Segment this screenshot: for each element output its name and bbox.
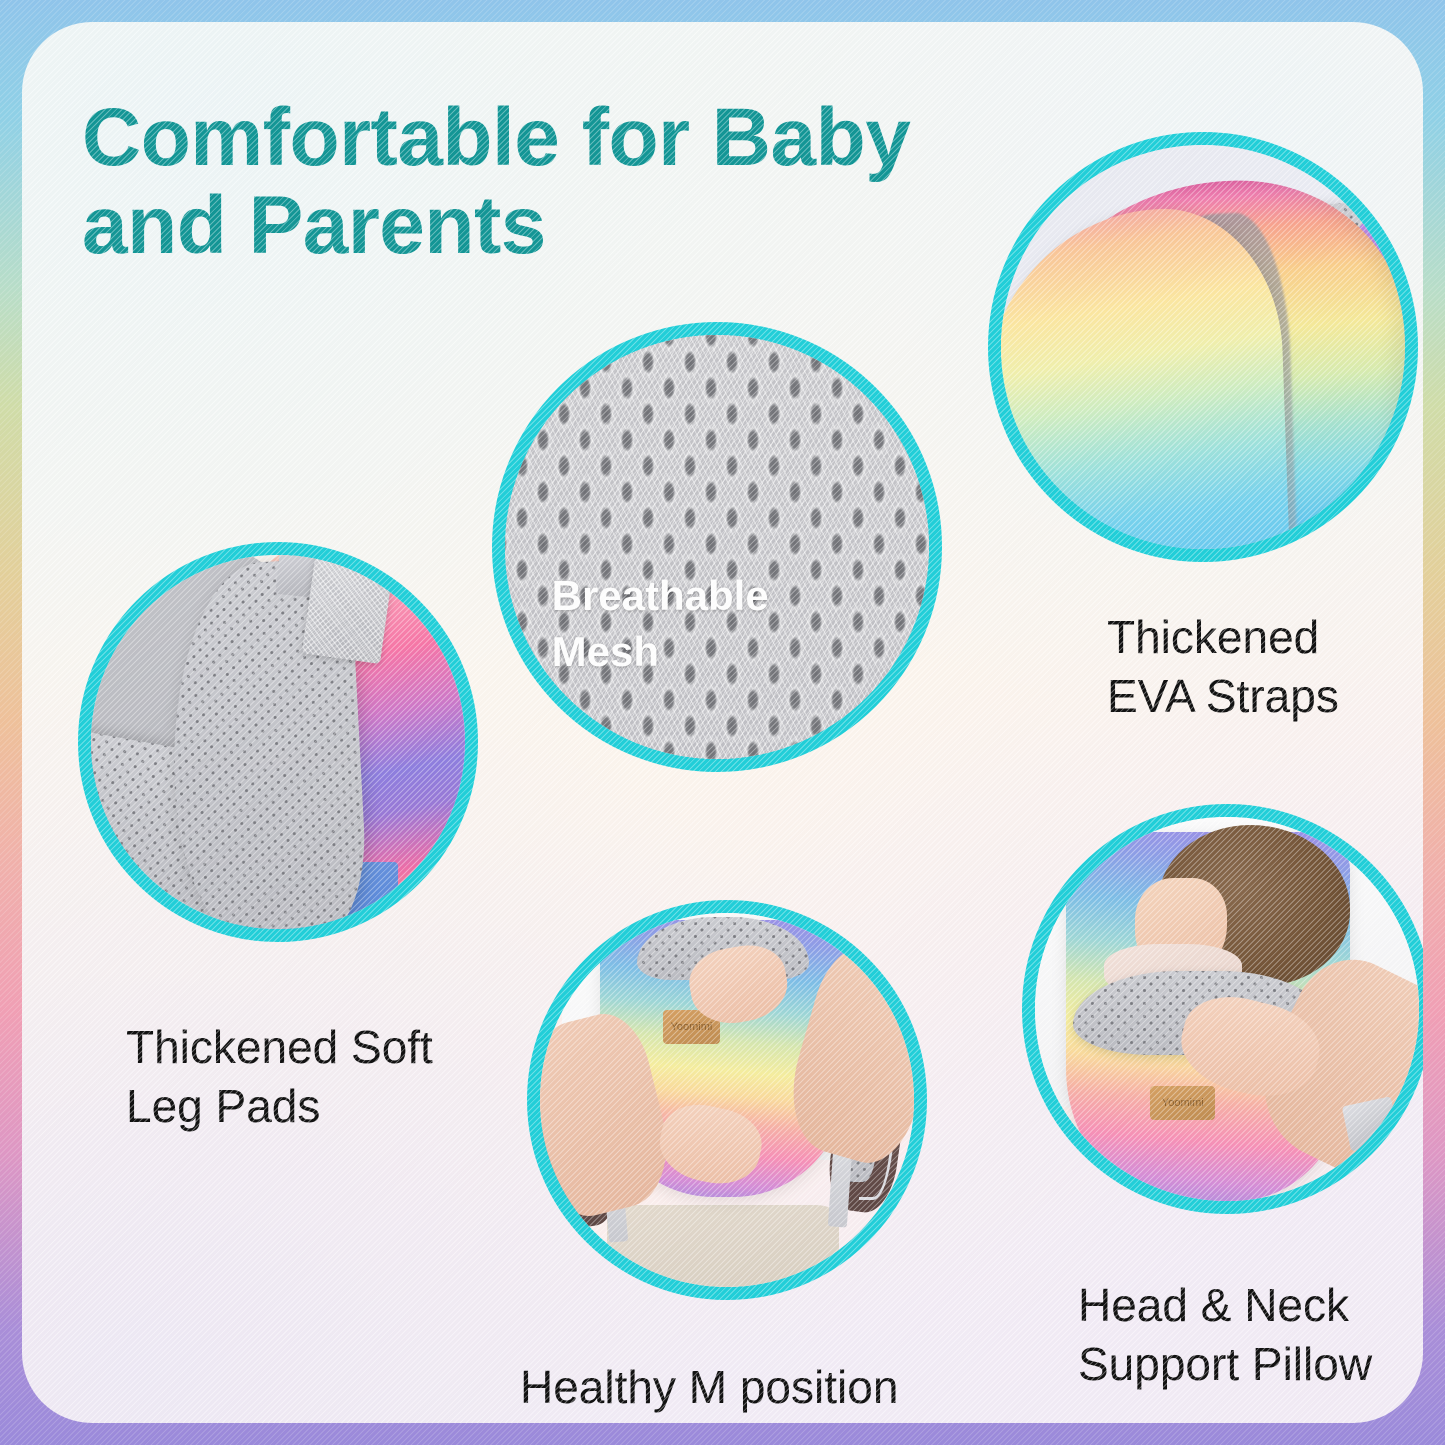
feature-label-leg-pads: Thickened Soft Leg Pads: [126, 1018, 506, 1136]
page-title: Comfortable for Baby and Parents: [82, 94, 1082, 269]
title-line-1: Comfortable for Baby: [82, 94, 1082, 182]
feature-circle-breathable-mesh[interactable]: Breathable Mesh: [492, 322, 942, 772]
title-line-2: and Parents: [82, 182, 1082, 270]
m-position-photo: Yoomimi: [540, 913, 914, 1287]
infographic-card: Comfortable for Baby and Parents Breatha…: [22, 22, 1423, 1423]
mesh-texture: [505, 335, 929, 759]
mesh-photo: Breathable Mesh: [505, 335, 929, 759]
feature-circle-leg-pads[interactable]: [78, 542, 478, 942]
brand-tag-2: Yoomimi: [1150, 1086, 1215, 1121]
feature-label-m-position: Healthy M position: [520, 1358, 1040, 1417]
head-neck-photo: Yoomimi: [1035, 817, 1419, 1201]
feature-circle-m-position[interactable]: Yoomimi: [527, 900, 927, 1300]
feature-circle-head-neck-pillow[interactable]: Yoomimi: [1022, 804, 1423, 1214]
leg-pad-velcro-patch: [302, 557, 393, 664]
parent-pants: [607, 1205, 839, 1287]
mesh-overlay-label: Breathable Mesh: [552, 568, 769, 679]
leg-pad-photo: [91, 555, 465, 929]
infographic-poster: Comfortable for Baby and Parents Breatha…: [0, 0, 1445, 1445]
feature-label-head-neck-pillow: Head & Neck Support Pillow: [1078, 1276, 1423, 1394]
feature-label-eva-straps: Thickened EVA Straps: [1107, 608, 1423, 726]
